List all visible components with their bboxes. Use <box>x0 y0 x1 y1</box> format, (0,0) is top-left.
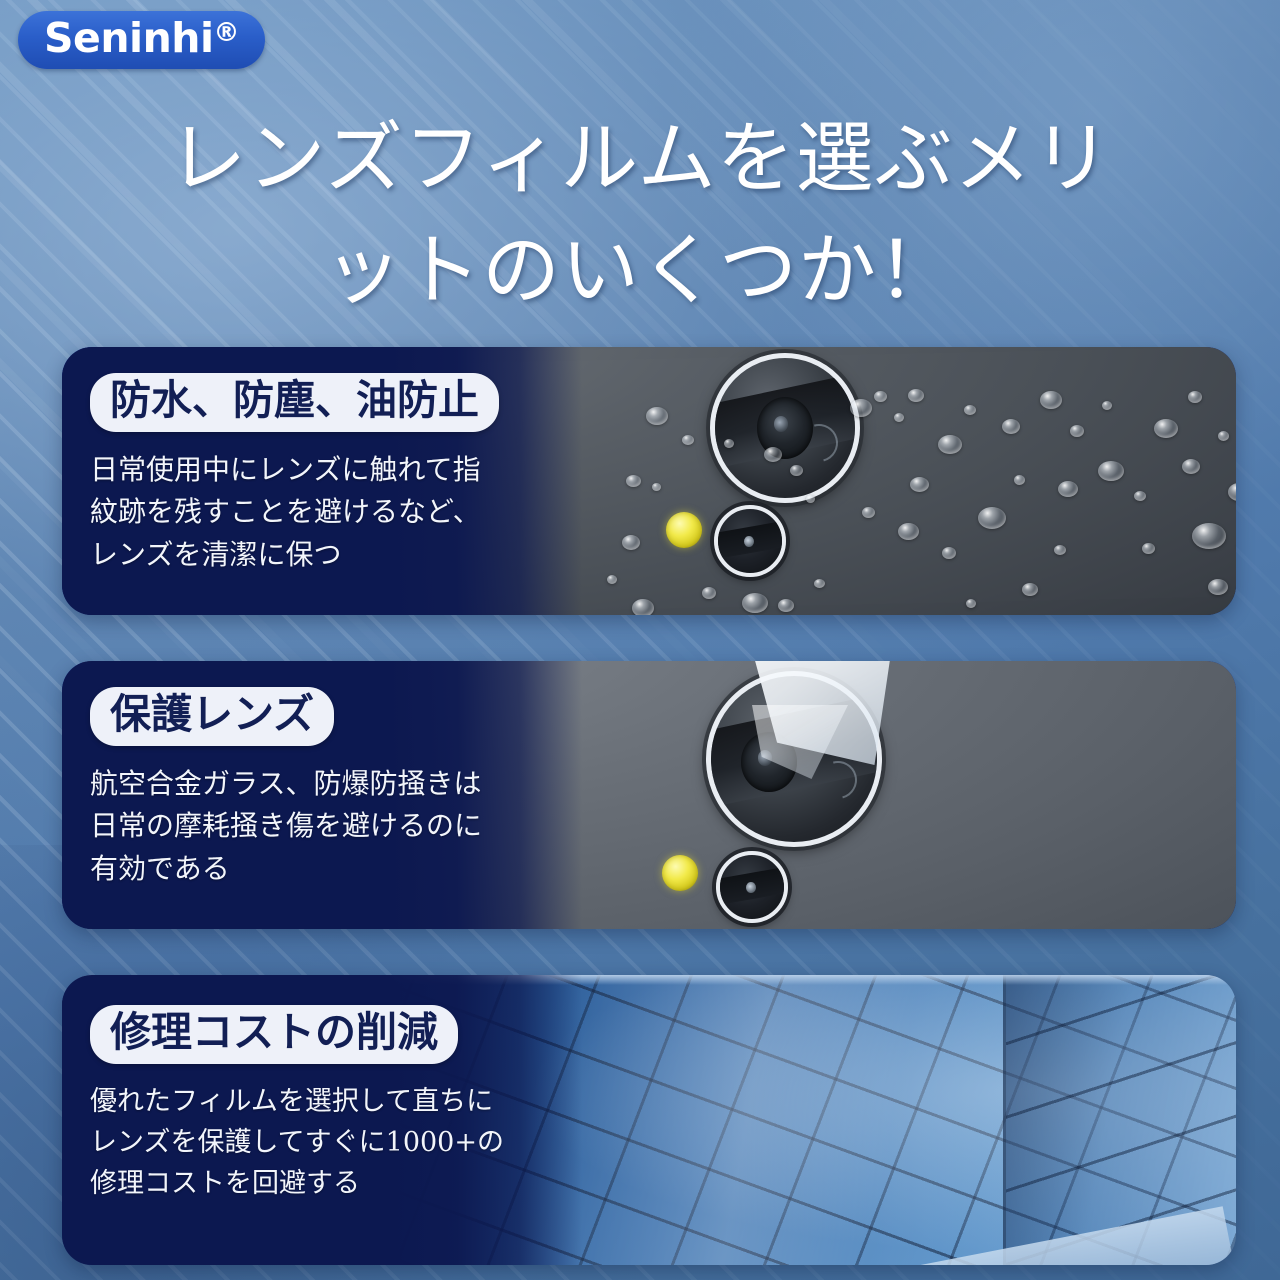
water-droplet <box>790 465 803 476</box>
water-droplet <box>874 391 887 402</box>
water-droplet <box>724 439 734 448</box>
water-droplet <box>1058 481 1078 497</box>
water-droplet <box>607 575 617 584</box>
feature-title-badge: 修理コストの削減 <box>90 1005 458 1064</box>
registered-trademark-icon: ® <box>214 18 240 48</box>
brand-name: Seninhi <box>44 14 214 62</box>
water-droplet <box>942 547 956 559</box>
feature-card-lens-protection: 保護レンズ 航空合金ガラス、防爆防掻きは日常の摩耗掻き傷を避けるのに有効である <box>62 661 1236 929</box>
water-droplet <box>646 407 668 425</box>
page-title-line-2: ットのいくつか！ <box>0 216 1280 328</box>
water-droplet <box>1154 419 1178 438</box>
feature-description: 優れたフィルムを選択して直ちにレンズを保護してすぐに1000+の修理コストを回避… <box>90 1081 514 1204</box>
water-droplet <box>702 587 716 599</box>
water-droplet <box>1192 523 1226 549</box>
water-droplet <box>632 599 654 615</box>
water-droplet <box>652 483 661 491</box>
water-droplet <box>1218 431 1229 441</box>
secondary-lens-dot <box>744 536 754 548</box>
infographic-page: Seninhi® レンズフィルムを選ぶメリ ットのいくつか！ <box>0 0 1280 1280</box>
water-droplet <box>966 599 976 608</box>
secondary-camera-lens <box>714 505 786 577</box>
water-droplet <box>1182 459 1200 474</box>
water-droplet <box>626 475 641 487</box>
feature-description: 日常使用中にレンズに触れて指紋跡を残すことを避けるなど、レンズを清潔に保つ <box>90 449 498 577</box>
water-droplet <box>1098 461 1124 481</box>
feature-card-waterproof: 防水、防塵、油防止 日常使用中にレンズに触れて指紋跡を残すことを避けるなど、レン… <box>62 347 1236 615</box>
secondary-camera-lens <box>716 851 788 923</box>
water-droplet <box>1188 391 1202 403</box>
main-camera-lens <box>710 353 860 503</box>
feature-title-badge: 保護レンズ <box>90 687 334 746</box>
page-title-line-1: レンズフィルムを選ぶメリ <box>0 104 1280 216</box>
feature-card-repair-cost: 修理コストの削減 優れたフィルムを選択して直ちにレンズを保護してすぐに1000+… <box>62 975 1236 1265</box>
water-droplet <box>1002 419 1020 434</box>
water-droplet <box>898 523 919 540</box>
brand-logo: Seninhi® <box>18 11 265 69</box>
secondary-lens-dot <box>746 882 756 894</box>
water-droplet <box>1134 491 1146 501</box>
feature-text-panel: 防水、防塵、油防止 日常使用中にレンズに触れて指紋跡を残すことを避けるなど、レン… <box>62 347 582 615</box>
water-droplet <box>742 593 768 613</box>
water-droplet <box>1142 543 1155 554</box>
camera-flash-led <box>666 512 702 548</box>
water-droplet <box>910 477 929 492</box>
page-title: レンズフィルムを選ぶメリ ットのいくつか！ <box>0 104 1280 327</box>
water-droplet <box>806 495 815 503</box>
water-droplet <box>862 507 875 518</box>
water-droplet <box>1102 401 1112 410</box>
water-droplet <box>908 389 924 402</box>
water-droplet <box>764 447 782 462</box>
feature-title-badge: 防水、防塵、油防止 <box>90 373 499 432</box>
water-droplet <box>894 413 904 422</box>
water-droplet <box>938 435 962 454</box>
water-droplet <box>814 579 825 588</box>
water-droplet <box>1208 579 1228 595</box>
water-droplet <box>622 535 640 550</box>
camera-flash-led <box>662 855 698 891</box>
water-droplet <box>778 599 794 612</box>
water-droplet <box>1014 475 1025 485</box>
feature-text-panel: 修理コストの削減 優れたフィルムを選択して直ちにレンズを保護してすぐに1000+… <box>62 975 582 1265</box>
water-droplet <box>1070 425 1084 437</box>
feature-description: 航空合金ガラス、防爆防掻きは日常の摩耗掻き傷を避けるのに有効である <box>90 763 498 891</box>
feature-text-panel: 保護レンズ 航空合金ガラス、防爆防掻きは日常の摩耗掻き傷を避けるのに有効である <box>62 661 582 929</box>
water-droplet <box>1040 391 1062 409</box>
water-droplet <box>1022 583 1038 596</box>
water-droplet <box>978 507 1006 529</box>
water-droplet <box>682 435 694 445</box>
water-droplet <box>850 399 872 417</box>
water-droplet <box>1054 545 1066 555</box>
water-droplet <box>964 405 976 415</box>
